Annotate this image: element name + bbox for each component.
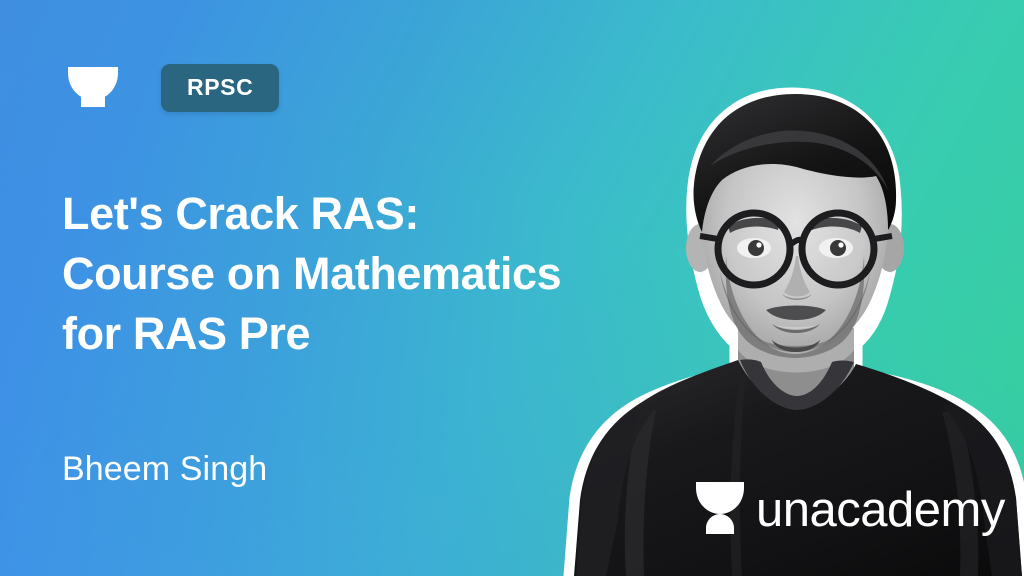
- course-thumbnail-card: unacademy: [0, 0, 1024, 576]
- lens-right: [806, 217, 870, 281]
- header-row: RPSC: [62, 57, 279, 119]
- instructor-name: Bheem Singh: [62, 452, 267, 486]
- course-title-line-3: for RAS Pre: [62, 304, 561, 364]
- educator-photo: unacademy: [560, 60, 1024, 576]
- course-title: Let's Crack RAS: Course on Mathematics f…: [62, 184, 561, 364]
- course-title-line-2: Course on Mathematics: [62, 244, 561, 304]
- exam-badge[interactable]: RPSC: [161, 64, 279, 112]
- lens-left: [722, 217, 786, 281]
- course-title-line-1: Let's Crack RAS:: [62, 184, 561, 244]
- unacademy-bowl-logo-icon[interactable]: [62, 57, 124, 119]
- shirt-wordmark: unacademy: [756, 483, 1006, 537]
